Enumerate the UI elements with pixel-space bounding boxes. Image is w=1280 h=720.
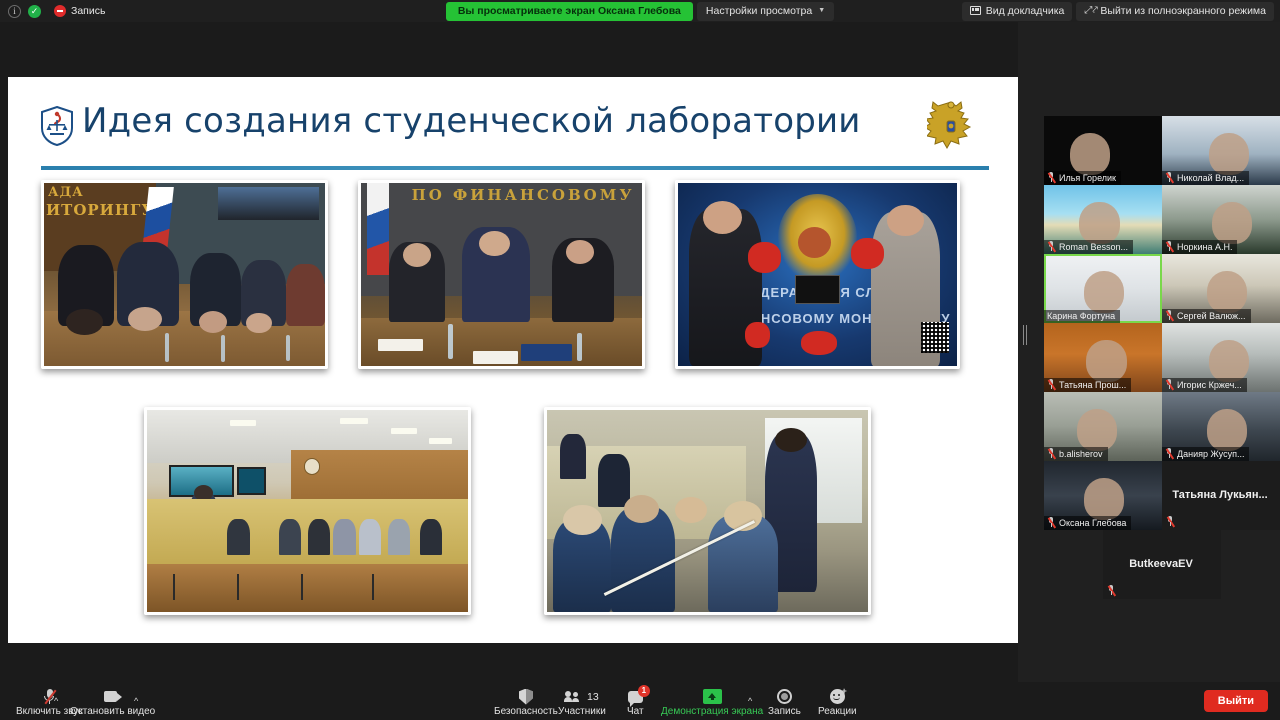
microphone-muted-icon (1165, 172, 1174, 183)
participant-name-text: ButkeevaEV (1129, 558, 1193, 570)
participant-tile[interactable]: ButkeevaEV (1103, 530, 1221, 599)
camera-icon (104, 688, 122, 705)
slide-header: Идея создания студенческой лаборатории (8, 77, 1019, 175)
participant-video-thumbnail (1084, 478, 1124, 521)
title-divider-rule (41, 166, 989, 170)
microphone-muted-icon (1047, 379, 1056, 390)
microphone-muted-icon (1047, 517, 1056, 528)
participant-video-thumbnail (1084, 271, 1124, 314)
participant-name-label: Норкина А.Н. (1162, 240, 1237, 254)
participant-tile[interactable]: Данияр Жусуп... (1162, 392, 1280, 461)
participant-name-label: Игорис Кржеч... (1162, 378, 1247, 392)
filmstrip-drag-handle[interactable] (1022, 322, 1028, 348)
participant-video-thumbnail (1077, 409, 1117, 452)
participant-tile[interactable]: Норкина А.Н. (1162, 185, 1280, 254)
photo-students-team-exercise[interactable] (544, 407, 871, 615)
participant-name-text: Сергей Валюж... (1177, 311, 1246, 321)
participant-video-thumbnail (1207, 271, 1247, 314)
microphone-muted-icon (1165, 448, 1174, 459)
exit-fullscreen-button[interactable]: ⤢⤤ Выйти из полноэкранного режима (1076, 2, 1274, 21)
reactions-icon: + (830, 688, 845, 705)
participant-name-label: Сергей Валюж... (1162, 309, 1251, 323)
participant-tile[interactable]: Игорис Кржеч... (1162, 323, 1280, 392)
speaker-view-label: Вид докладчика (986, 5, 1065, 17)
chat-unread-badge: 1 (638, 685, 650, 697)
participant-video-thumbnail (1070, 133, 1110, 176)
view-options-label: Настройки просмотра (706, 5, 812, 17)
participant-tile[interactable]: b.alisherov (1044, 392, 1162, 461)
share-options-chevron[interactable]: ^ (748, 696, 752, 706)
participants-count: 13 (587, 691, 599, 703)
meeting-controls-toolbar: Включить звук ^ Остановить видео ^ Безоп… (0, 682, 1280, 720)
russian-coat-of-arms (927, 99, 975, 153)
participant-tile[interactable]: Сергей Валюж... (1162, 254, 1280, 323)
security-label: Безопасность (494, 706, 558, 718)
shield-icon (519, 688, 533, 705)
participant-tile[interactable]: Карина Фортуна (1044, 254, 1162, 323)
microphone-muted-icon (1166, 516, 1175, 527)
participant-name-text: Игорис Кржеч... (1177, 380, 1242, 390)
microphone-muted-icon (1165, 310, 1174, 321)
record-button[interactable]: Запись (768, 688, 801, 718)
security-button[interactable]: Безопасность (494, 688, 558, 718)
participant-name-text: Николай Влад... (1177, 173, 1244, 183)
stop-video-button[interactable]: Остановить видео (70, 688, 155, 718)
participant-name-text: Норкина А.Н. (1177, 242, 1232, 252)
shared-screen-slide[interactable]: Идея создания студенческой лаборатории А… (8, 77, 1019, 643)
participant-tile[interactable]: Николай Влад... (1162, 116, 1280, 185)
reactions-button[interactable]: + Реакции (818, 688, 857, 718)
participant-name-label: Карина Фортуна (1044, 310, 1120, 323)
microphone-muted-icon (1107, 585, 1116, 596)
chevron-down-icon: ▼ (818, 7, 825, 14)
participant-tile[interactable]: Roman Besson... (1044, 185, 1162, 254)
share-screen-icon (703, 688, 722, 705)
participant-name-label: Roman Besson... (1044, 240, 1133, 254)
zoom-meeting-window: i ✓ Запись Вы просматриваете экран Оксан… (0, 0, 1280, 720)
participant-name-label: b.alisherov (1044, 447, 1108, 461)
participant-name-label: Николай Влад... (1162, 171, 1249, 185)
participant-name-label: Оксана Глебова (1044, 516, 1131, 530)
speaker-view-icon (970, 6, 981, 15)
top-bar-right-group: Вид докладчика ⤢⤤ Выйти из полноэкранног… (962, 0, 1274, 22)
participants-label: Участники (558, 706, 606, 718)
participant-tiles-container: Илья ГореликНиколай Влад...Roman Besson.… (1044, 116, 1280, 599)
participant-name-text: Карина Фортуна (1047, 311, 1115, 321)
chat-button[interactable]: 1 Чат (627, 688, 644, 718)
exit-fullscreen-label: Выйти из полноэкранного режима (1100, 5, 1266, 17)
participant-name-label: Татьяна Прош... (1044, 378, 1131, 392)
participant-video-thumbnail (1209, 340, 1249, 383)
speaker-view-button[interactable]: Вид докладчика (962, 2, 1073, 21)
participant-tile[interactable]: Оксана Глебова (1044, 461, 1162, 530)
participant-filmstrip: Илья ГореликНиколай Влад...Roman Besson.… (1018, 22, 1280, 682)
reactions-label: Реакции (818, 706, 857, 718)
participant-video-thumbnail (1209, 133, 1249, 176)
participant-name-text: Татьяна Лукьян... (1172, 489, 1267, 501)
leave-meeting-button[interactable]: Выйти (1204, 690, 1268, 712)
participant-name-text: Данияр Жусуп... (1177, 449, 1244, 459)
participant-video-thumbnail (1207, 409, 1247, 452)
screen-share-banner: Вы просматриваете экран Оксана Глебова (446, 2, 693, 21)
view-options-button[interactable]: Настройки просмотра ▼ (697, 2, 834, 21)
photo1-caption-main: ИТОРИНГУ (46, 201, 155, 219)
participant-name-text: Оксана Глебова (1059, 518, 1126, 528)
participant-name-label: Илья Горелик (1044, 171, 1121, 185)
university-shield-logo (40, 106, 74, 146)
participant-name-text: Илья Горелик (1059, 173, 1116, 183)
photo2-caption: ПО ФИНАНСОВОМУ (412, 186, 635, 204)
photo1-caption-top: АДА (48, 185, 84, 200)
chat-label: Чат (627, 706, 644, 718)
video-options-chevron[interactable]: ^ (134, 696, 138, 706)
slide-title: Идея создания студенческой лаборатории (82, 101, 861, 141)
microphone-muted-icon (1047, 241, 1056, 252)
audio-options-chevron[interactable]: ^ (54, 696, 58, 706)
participant-name-label: Данияр Жусуп... (1162, 447, 1249, 461)
participant-video-thumbnail (1086, 340, 1126, 383)
record-icon (777, 688, 792, 705)
participants-button[interactable]: 13 Участники (558, 688, 606, 718)
participant-video-thumbnail (1079, 202, 1119, 245)
participant-name-label: Татьяна Лукьян... (1162, 461, 1280, 530)
microphone-muted-icon (1047, 172, 1056, 183)
participants-icon: 13 (565, 688, 599, 705)
participant-name-label: ButkeevaEV (1103, 530, 1221, 599)
participant-name-text: Roman Besson... (1059, 242, 1128, 252)
participant-video-thumbnail (1212, 202, 1252, 245)
photo-lecture-hall-audience[interactable] (144, 407, 471, 615)
participant-tile[interactable]: Илья Горелик (1044, 116, 1162, 185)
meeting-top-bar: i ✓ Запись Вы просматриваете экран Оксан… (0, 0, 1280, 22)
chat-icon: 1 (628, 688, 643, 705)
exit-fullscreen-icon: ⤢⤤ (1084, 5, 1095, 16)
microphone-muted-icon (1047, 448, 1056, 459)
stop-video-label: Остановить видео (70, 706, 155, 718)
photo-roundtable-monitoring[interactable]: АДА ИТОРИНГУ (41, 180, 328, 369)
microphone-muted-icon (1165, 379, 1174, 390)
photo-row-top: АДА ИТОРИНГУ (41, 180, 960, 369)
photo-row-bottom (144, 407, 871, 615)
record-label: Запись (768, 706, 801, 718)
participant-tile[interactable]: Татьяна Прош... (1044, 323, 1162, 392)
participant-tile[interactable]: Татьяна Лукьян... (1162, 461, 1280, 530)
microphone-muted-icon (1165, 241, 1174, 252)
share-screen-label: Демонстрация экрана (661, 706, 763, 718)
photo-boxing-gloves-ceremony[interactable]: ЕДЕРАЛЬНАЯ СЛУЖБА АНСОВОМУ МОНИТОРИНГУ (675, 180, 960, 369)
participant-name-text: b.alisherov (1059, 449, 1103, 459)
participant-name-text: Татьяна Прош... (1059, 380, 1126, 390)
photo-press-conference[interactable]: ПО ФИНАНСОВОМУ (358, 180, 645, 369)
